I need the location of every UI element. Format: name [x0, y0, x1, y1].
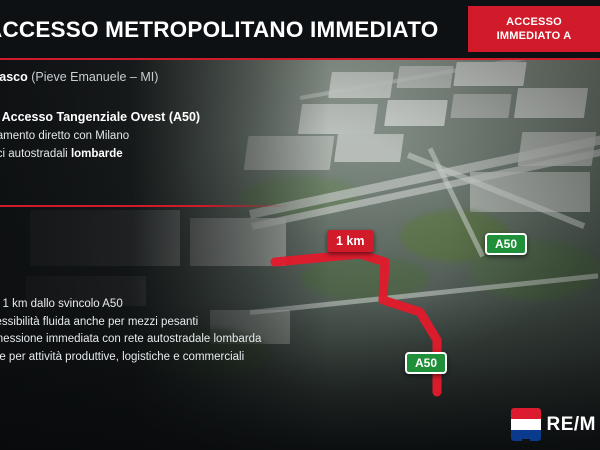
subheading: n | Accesso Tangenziale Ovest (A50): [0, 110, 384, 124]
page-title: ACCESSO METROPOLITANO IMMEDIATO: [0, 10, 456, 50]
route-overlay: [0, 0, 600, 450]
motorway-chip-a50-top: A50: [485, 233, 527, 255]
info-line-2-plain: ttrici autostradali: [0, 148, 71, 160]
list-item: eale per attività produttive, logistiche…: [0, 349, 404, 367]
location-name: onasco: [0, 70, 28, 84]
distance-chip: 1 km: [327, 230, 374, 252]
header-bar: ACCESSO METROPOLITANO IMMEDIATO ACCESSO …: [0, 0, 600, 60]
list-item: ccessibilità fluida anche per mezzi pesa…: [0, 314, 404, 332]
location-line: onasco (Pieve Emanuele – MI): [0, 70, 364, 84]
location-detail: (Pieve Emanuele – MI): [31, 70, 158, 84]
list-item: olo 1 km dallo svincolo A50: [0, 296, 404, 314]
brand-logo: RE/M: [511, 408, 597, 442]
list-item: onnessione immediata con rete autostrada…: [0, 331, 404, 349]
info-line-2: ttrici autostradali lombarde: [0, 148, 404, 160]
balloon-red-stripe: [511, 408, 541, 419]
bullet-list: olo 1 km dallo svincolo A50 ccessibilità…: [0, 296, 404, 366]
status-badge: ACCESSO IMMEDIATO A: [468, 6, 600, 52]
balloon-basket: [522, 439, 530, 443]
accent-divider: [0, 205, 290, 207]
remax-balloon-icon: [511, 408, 541, 442]
header-accent-rule: [0, 58, 600, 60]
slide-root: ACCESSO METROPOLITANO IMMEDIATO ACCESSO …: [0, 0, 600, 450]
badge-line-2: IMMEDIATO A: [497, 29, 572, 43]
motorway-chip-a50-bottom: A50: [405, 352, 447, 374]
balloon-white-stripe: [511, 419, 541, 430]
info-line-1: egamento diretto con Milano: [0, 130, 404, 142]
info-line-2-bold: lombarde: [71, 148, 123, 160]
badge-line-1: ACCESSO: [506, 15, 562, 29]
brand-name: RE/M: [547, 414, 597, 436]
